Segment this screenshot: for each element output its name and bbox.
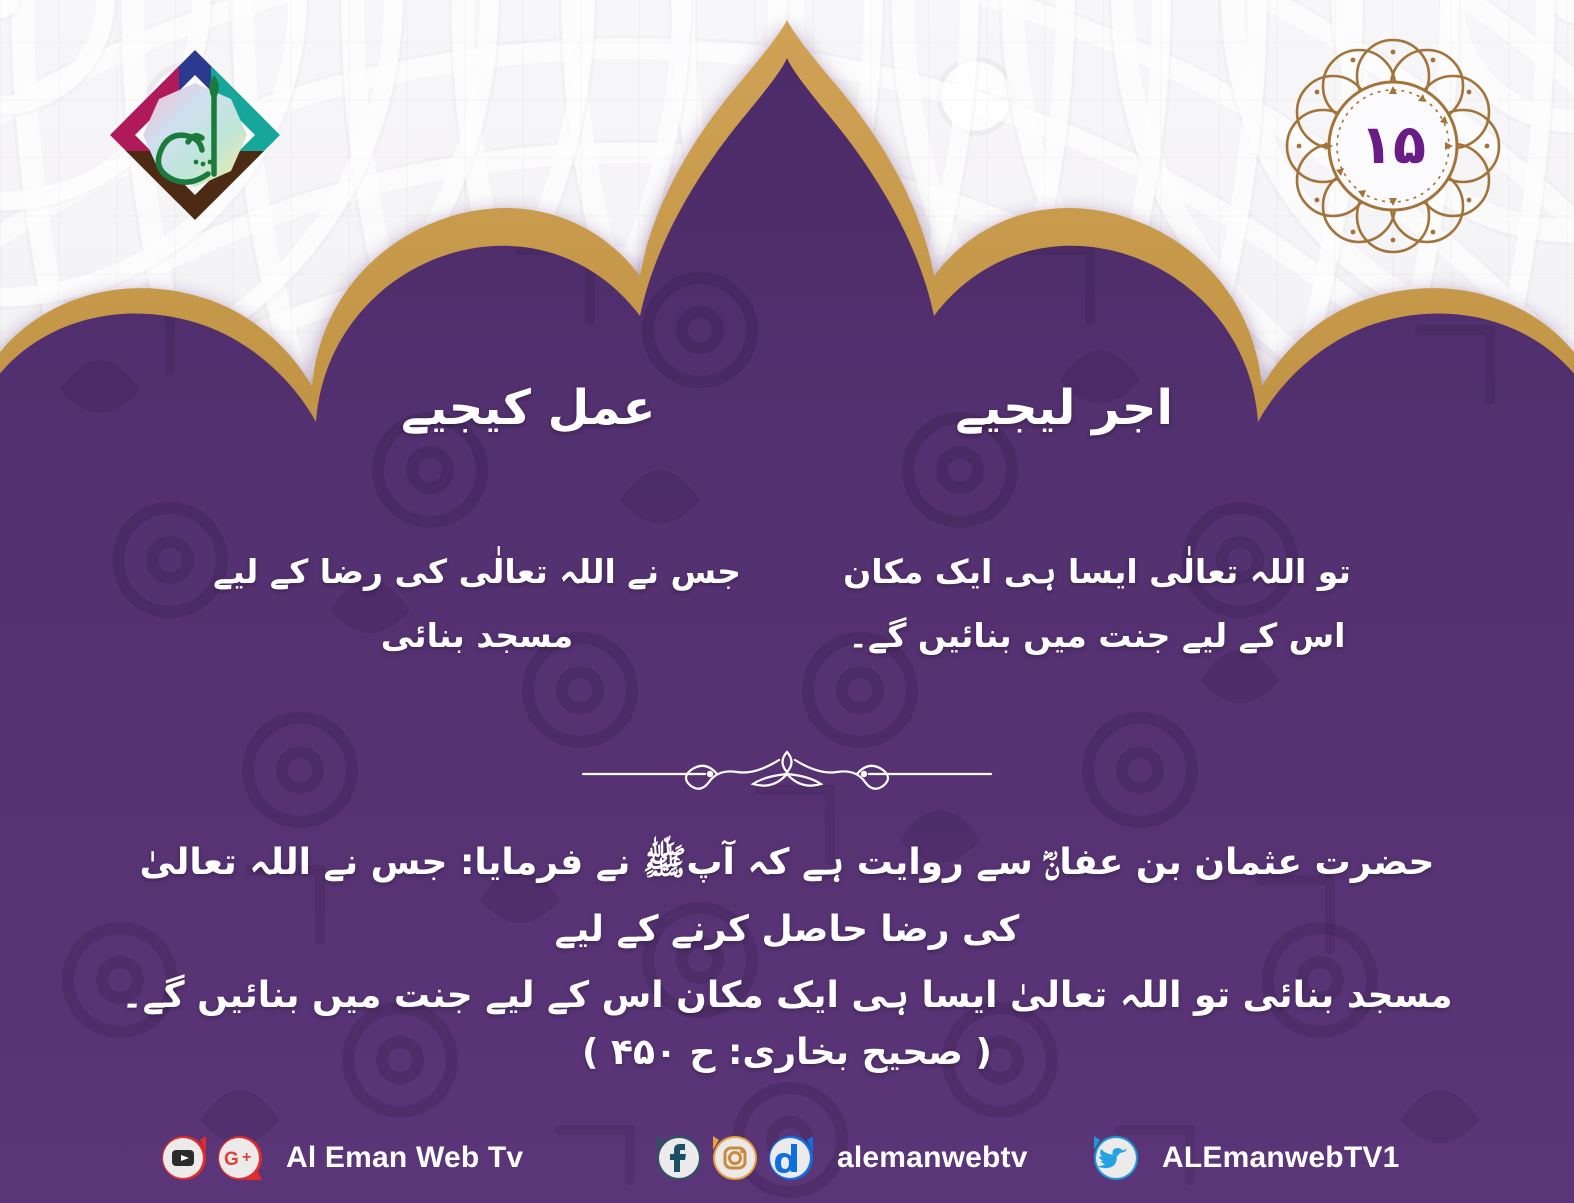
- social-group-youtube: G + Al Eman Web Tv: [160, 1134, 523, 1182]
- social-group-handles: alemanwebtv: [655, 1134, 1028, 1182]
- column-left-reward: تو اللہ تعالٰی ایسا ہی ایک مکان اس کے لی…: [817, 540, 1377, 669]
- heading-left-ajr: اجر لیجیے: [955, 378, 1173, 438]
- youtube-icon[interactable]: [160, 1134, 208, 1182]
- heading-right-amal: عمل کیجیے: [401, 378, 655, 438]
- hadith-text: حضرت عثمان بن عفانؓ سے روایت ہے کہ آپﷺ ن…: [0, 830, 1574, 1030]
- column-right-deed: جس نے اللہ تعالٰی کی رضا کے لیے مسجد بنا…: [197, 540, 757, 669]
- hadith-citation: ( صحیح بخاری: ح ۴۵۰ ): [0, 1032, 1574, 1073]
- ornamental-divider: [577, 744, 997, 800]
- social-label-handles: alemanwebtv: [837, 1141, 1028, 1175]
- al-eman-logo[interactable]: [96, 36, 294, 234]
- googleplus-icon[interactable]: G +: [216, 1134, 264, 1182]
- svg-text:+: +: [242, 1149, 251, 1166]
- page-number-badge: ۱۵: [1283, 36, 1503, 256]
- svg-text:G: G: [224, 1149, 239, 1170]
- facebook-icon[interactable]: [655, 1134, 703, 1182]
- flourish-divider-icon: [577, 744, 997, 800]
- social-label-youtube: Al Eman Web Tv: [286, 1141, 523, 1175]
- page-number-text: ۱۵: [1283, 36, 1503, 256]
- instagram-icon[interactable]: [711, 1134, 759, 1182]
- dailymotion-icon[interactable]: [767, 1134, 815, 1182]
- hadith-line-2: مسجد بنائی تو اللہ تعالیٰ ایسا ہی ایک مک…: [110, 963, 1464, 1030]
- headings-row: اجر لیجیے عمل کیجیے: [0, 378, 1574, 438]
- social-group-twitter: ALEmanwebTV1: [1092, 1134, 1399, 1182]
- twitter-icon[interactable]: [1092, 1134, 1140, 1182]
- two-column-body: تو اللہ تعالٰی ایسا ہی ایک مکان اس کے لی…: [0, 540, 1574, 669]
- poster-canvas: ۱۵ اجر لیجیے عمل کیجیے تو اللہ تعالٰی ای…: [0, 0, 1574, 1203]
- social-label-twitter: ALEmanwebTV1: [1162, 1141, 1399, 1175]
- footer-social-bar: G + Al Eman Web Tv al: [0, 1113, 1574, 1203]
- hadith-line-1: حضرت عثمان بن عفانؓ سے روایت ہے کہ آپﷺ ن…: [110, 830, 1464, 963]
